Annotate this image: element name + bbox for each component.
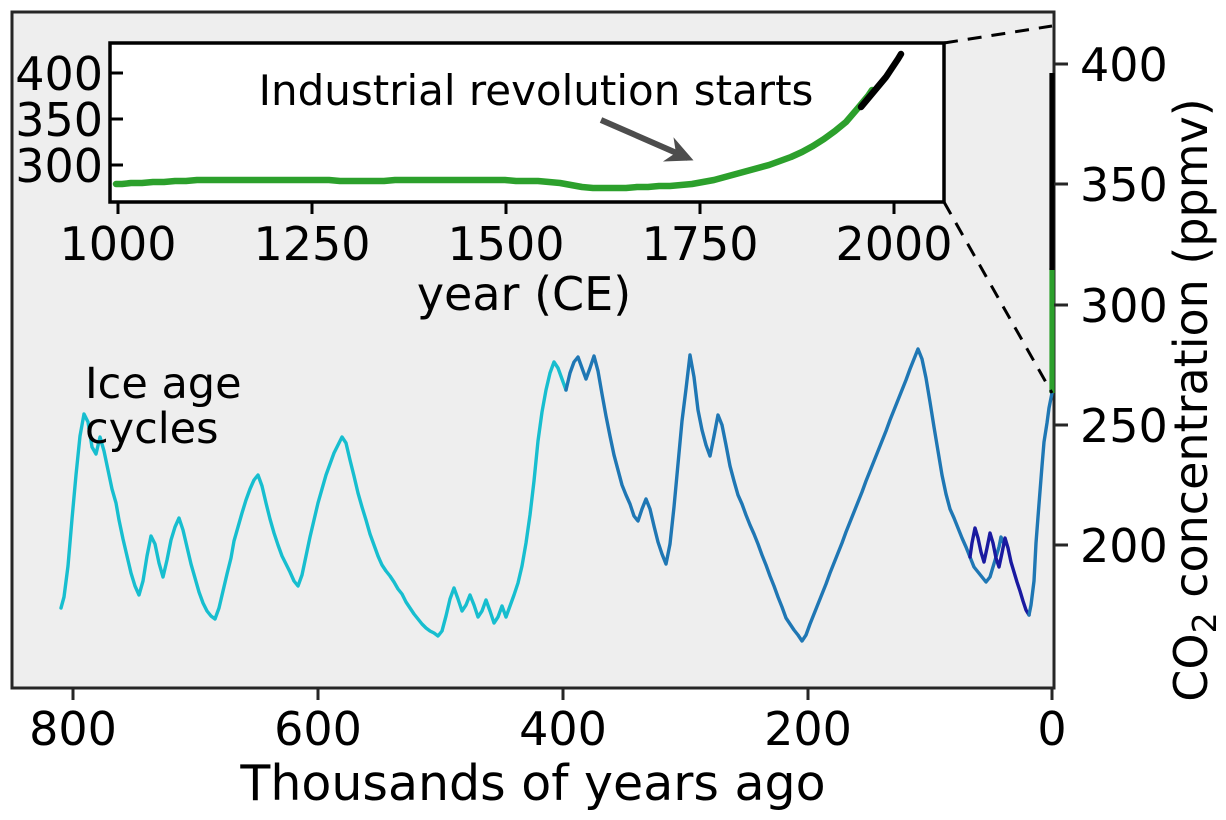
inset-ytick-label-300: 300: [15, 139, 103, 193]
main-xtick-label-400: 400: [519, 702, 607, 756]
main-xtick-label-600: 600: [274, 702, 362, 756]
main-ytick-label-400: 400: [1080, 38, 1168, 92]
industrial-revolution-label: Industrial revolution starts: [259, 66, 814, 115]
ice-age-cycles-label-line2: cycles: [85, 404, 219, 454]
main-x-axis-title: Thousands of years ago: [239, 755, 825, 812]
ice-age-cycles-label-line1: Ice age: [85, 359, 242, 409]
main-ytick-label-350: 350: [1080, 158, 1168, 212]
main-y-axis-title: CO2 concentration (ppmv): [1164, 98, 1224, 701]
main-ytick-label-250: 250: [1080, 399, 1168, 453]
main-xtick-label-200: 200: [764, 702, 852, 756]
inset-xtick-label-1500: 1500: [447, 217, 564, 271]
inset-xtick-label-1000: 1000: [59, 217, 176, 271]
main-ytick-label-300: 300: [1080, 279, 1168, 333]
main-y-ticks: [1054, 64, 1068, 545]
main-ytick-label-200: 200: [1080, 519, 1168, 573]
inset-xtick-label-2000: 2000: [835, 217, 952, 271]
main-xtick-label-0: 0: [1037, 702, 1066, 756]
inset-xtick-label-1250: 1250: [253, 217, 370, 271]
inset-x-axis-title: year (CE): [417, 267, 631, 321]
main-x-ticks: [73, 688, 1052, 700]
main-xtick-label-800: 800: [29, 702, 117, 756]
inset-xtick-label-1750: 1750: [641, 217, 758, 271]
chart-canvas: 800 600 400 200 0 400 350 300 250 200 Th…: [0, 0, 1226, 820]
co2-concentration-figure: 800 600 400 200 0 400 350 300 250 200 Th…: [0, 0, 1226, 820]
